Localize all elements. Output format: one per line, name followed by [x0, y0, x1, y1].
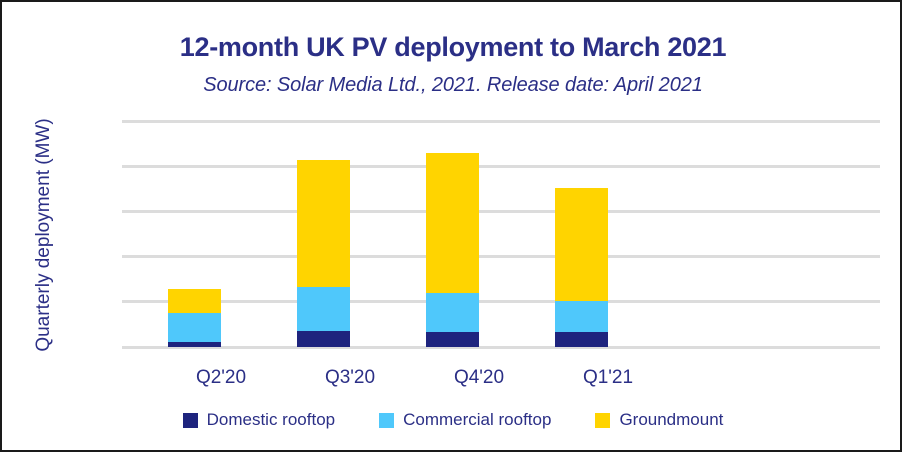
y-axis-title: Quarterly deployment (MW) [33, 85, 55, 385]
bar-segment[interactable] [426, 153, 479, 293]
bar-group[interactable] [297, 160, 350, 347]
bar-segment[interactable] [168, 342, 221, 347]
bar-segment[interactable] [426, 293, 479, 332]
legend-label: Groundmount [619, 410, 723, 430]
bar-segment[interactable] [555, 332, 608, 347]
chart-subtitle: Source: Solar Media Ltd., 2021. Release … [2, 74, 902, 97]
bar-group[interactable] [555, 188, 608, 347]
legend-swatch-icon [595, 413, 610, 428]
legend-swatch-icon [379, 413, 394, 428]
bar-series-layer [122, 121, 880, 347]
chart-title: 12-month UK PV deployment to March 2021 [2, 32, 902, 63]
x-axis-tick-label: Q1'21 [528, 367, 688, 389]
chart-legend: Domestic rooftopCommercial rooftopGround… [2, 410, 902, 430]
legend-label: Domestic rooftop [207, 410, 336, 430]
bar-segment[interactable] [555, 301, 608, 332]
bar-segment[interactable] [297, 331, 350, 347]
plot-area: 250200150100500 Q2'20Q3'20Q4'20Q1'21 [122, 121, 880, 347]
chart-container: 12-month UK PV deployment to March 2021 … [0, 0, 902, 452]
bar-segment[interactable] [297, 160, 350, 287]
bar-segment[interactable] [168, 289, 221, 313]
legend-item[interactable]: Commercial rooftop [379, 410, 551, 430]
bar-group[interactable] [168, 289, 221, 347]
legend-item[interactable]: Groundmount [595, 410, 723, 430]
bar-segment[interactable] [555, 188, 608, 301]
bar-segment[interactable] [426, 332, 479, 347]
bar-segment[interactable] [297, 287, 350, 330]
bar-group[interactable] [426, 153, 479, 347]
legend-label: Commercial rooftop [403, 410, 551, 430]
legend-swatch-icon [183, 413, 198, 428]
legend-item[interactable]: Domestic rooftop [183, 410, 336, 430]
bar-segment[interactable] [168, 313, 221, 342]
